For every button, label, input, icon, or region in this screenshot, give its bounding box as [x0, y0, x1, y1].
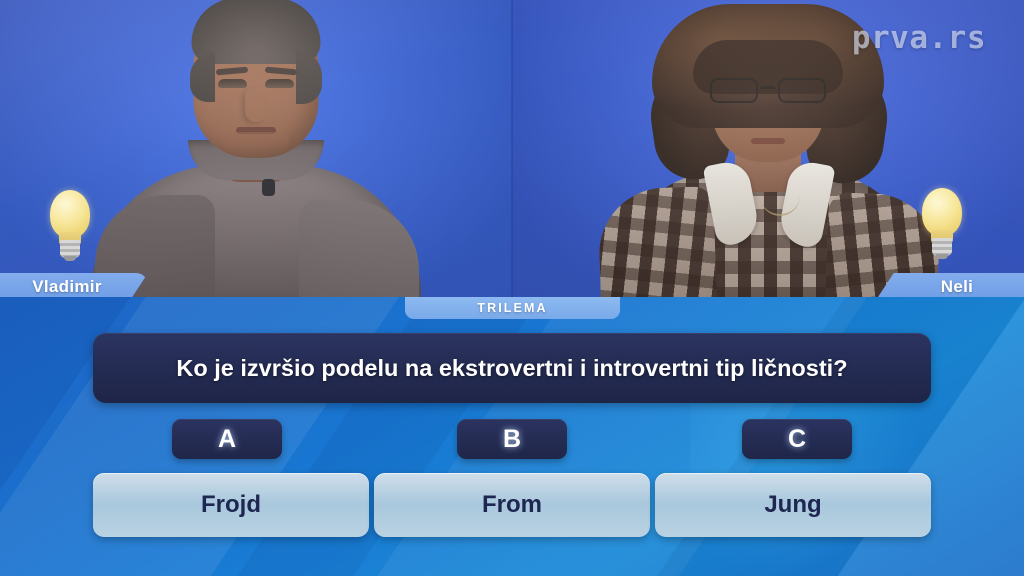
right-hair-side-left: [645, 63, 734, 184]
right-mouth: [751, 138, 785, 144]
left-chin: [223, 132, 289, 154]
answer-option-b[interactable]: From: [374, 473, 650, 537]
answer-letter-a[interactable]: A: [172, 419, 282, 459]
right-collar-right: [776, 159, 835, 250]
left-hair-side-left: [190, 52, 215, 102]
left-hair: [192, 0, 321, 64]
bulb-tip: [936, 254, 948, 259]
left-neck: [218, 130, 294, 182]
left-eyebrow-right: [265, 67, 297, 76]
bulb-glass: [922, 188, 962, 236]
glasses-lens-right: [778, 78, 826, 103]
lightbulb-icon-left[interactable]: [46, 190, 94, 262]
contestant-name-left: Vladimir: [0, 273, 148, 300]
right-shoulder-left: [597, 186, 717, 300]
contestant-name-right-label: Neli: [941, 277, 973, 297]
lightbulb-icon-right[interactable]: [918, 188, 966, 260]
left-shirt-collar: [188, 140, 324, 180]
broadcast-screen: prva.rs Vladimir Neli TRILEMA Ko je izvr…: [0, 0, 1024, 576]
lapel-microphone-icon: [262, 179, 275, 196]
round-banner: TRILEMA: [405, 297, 620, 319]
channel-logo: prva.rs: [852, 20, 986, 56]
right-nose: [758, 104, 778, 134]
answer-option-a[interactable]: Frojd: [93, 473, 369, 537]
right-hair-fringe: [693, 40, 843, 94]
right-hair-side-right: [802, 63, 893, 188]
answer-letter-a-label: A: [218, 425, 236, 454]
right-hair: [652, 4, 884, 128]
left-eyebrow-left: [216, 67, 248, 76]
left-hair-side-right: [296, 50, 322, 104]
answer-letter-b-label: B: [503, 425, 521, 454]
right-head: [712, 22, 824, 162]
bulb-glass: [50, 190, 90, 238]
contestant-name-left-label: Vladimir: [32, 277, 101, 297]
left-eye-right: [265, 79, 294, 88]
contestant-name-right: Neli: [876, 273, 1024, 300]
left-shoulder-right: [299, 200, 419, 300]
answer-option-c[interactable]: Jung: [655, 473, 931, 537]
question-panel: TRILEMA Ko je izvršio podelu na ekstrove…: [0, 297, 1024, 576]
bulb-tip: [64, 256, 76, 261]
answer-option-c-text: Jung: [764, 491, 821, 519]
video-split-divider: [511, 0, 513, 300]
right-torso: [608, 170, 928, 300]
left-nose: [245, 88, 267, 122]
question-text: Ko je izvršio podelu na ekstrovertni i i…: [176, 354, 847, 383]
left-head: [194, 6, 319, 158]
answer-option-a-text: Frojd: [201, 491, 261, 519]
right-neck: [735, 134, 801, 192]
eyeglasses-icon: [706, 78, 830, 104]
answer-letter-b[interactable]: B: [457, 419, 567, 459]
contestant-left-figure: [91, 10, 421, 300]
glasses-lens-left: [710, 78, 758, 103]
question-box: Ko je izvršio podelu na ekstrovertni i i…: [93, 333, 931, 403]
answer-option-b-text: From: [482, 491, 542, 519]
answer-letter-c[interactable]: C: [742, 419, 852, 459]
right-collar-left: [703, 159, 762, 248]
right-necklace: [760, 186, 800, 216]
round-banner-label: TRILEMA: [477, 301, 547, 315]
video-area: prva.rs Vladimir Neli: [0, 0, 1024, 300]
glasses-bridge: [761, 86, 775, 89]
left-mouth: [236, 127, 276, 134]
answer-letter-c-label: C: [788, 425, 806, 454]
left-eye-left: [218, 79, 247, 88]
